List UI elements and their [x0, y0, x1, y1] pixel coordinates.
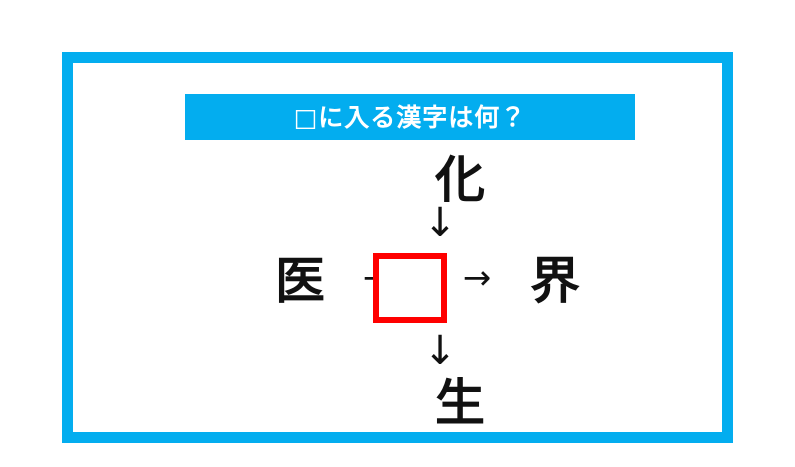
kanji-top: 化	[410, 155, 510, 205]
kanji-bottom: 生	[410, 378, 510, 428]
page-title: □に入る漢字は何？	[294, 105, 527, 130]
kanji-right: 界	[505, 256, 605, 306]
arrow-down-bottom-icon: ↓	[410, 331, 470, 371]
arrow-right-right-icon: →	[447, 261, 507, 295]
answer-box[interactable]	[373, 253, 447, 323]
kanji-puzzle-diagram: 化 ↓ 医 → → 界 ↓ 生	[62, 145, 733, 430]
kanji-left: 医	[250, 256, 350, 306]
arrow-down-top-icon: ↓	[410, 203, 470, 243]
title-banner: □に入る漢字は何？	[185, 94, 635, 140]
